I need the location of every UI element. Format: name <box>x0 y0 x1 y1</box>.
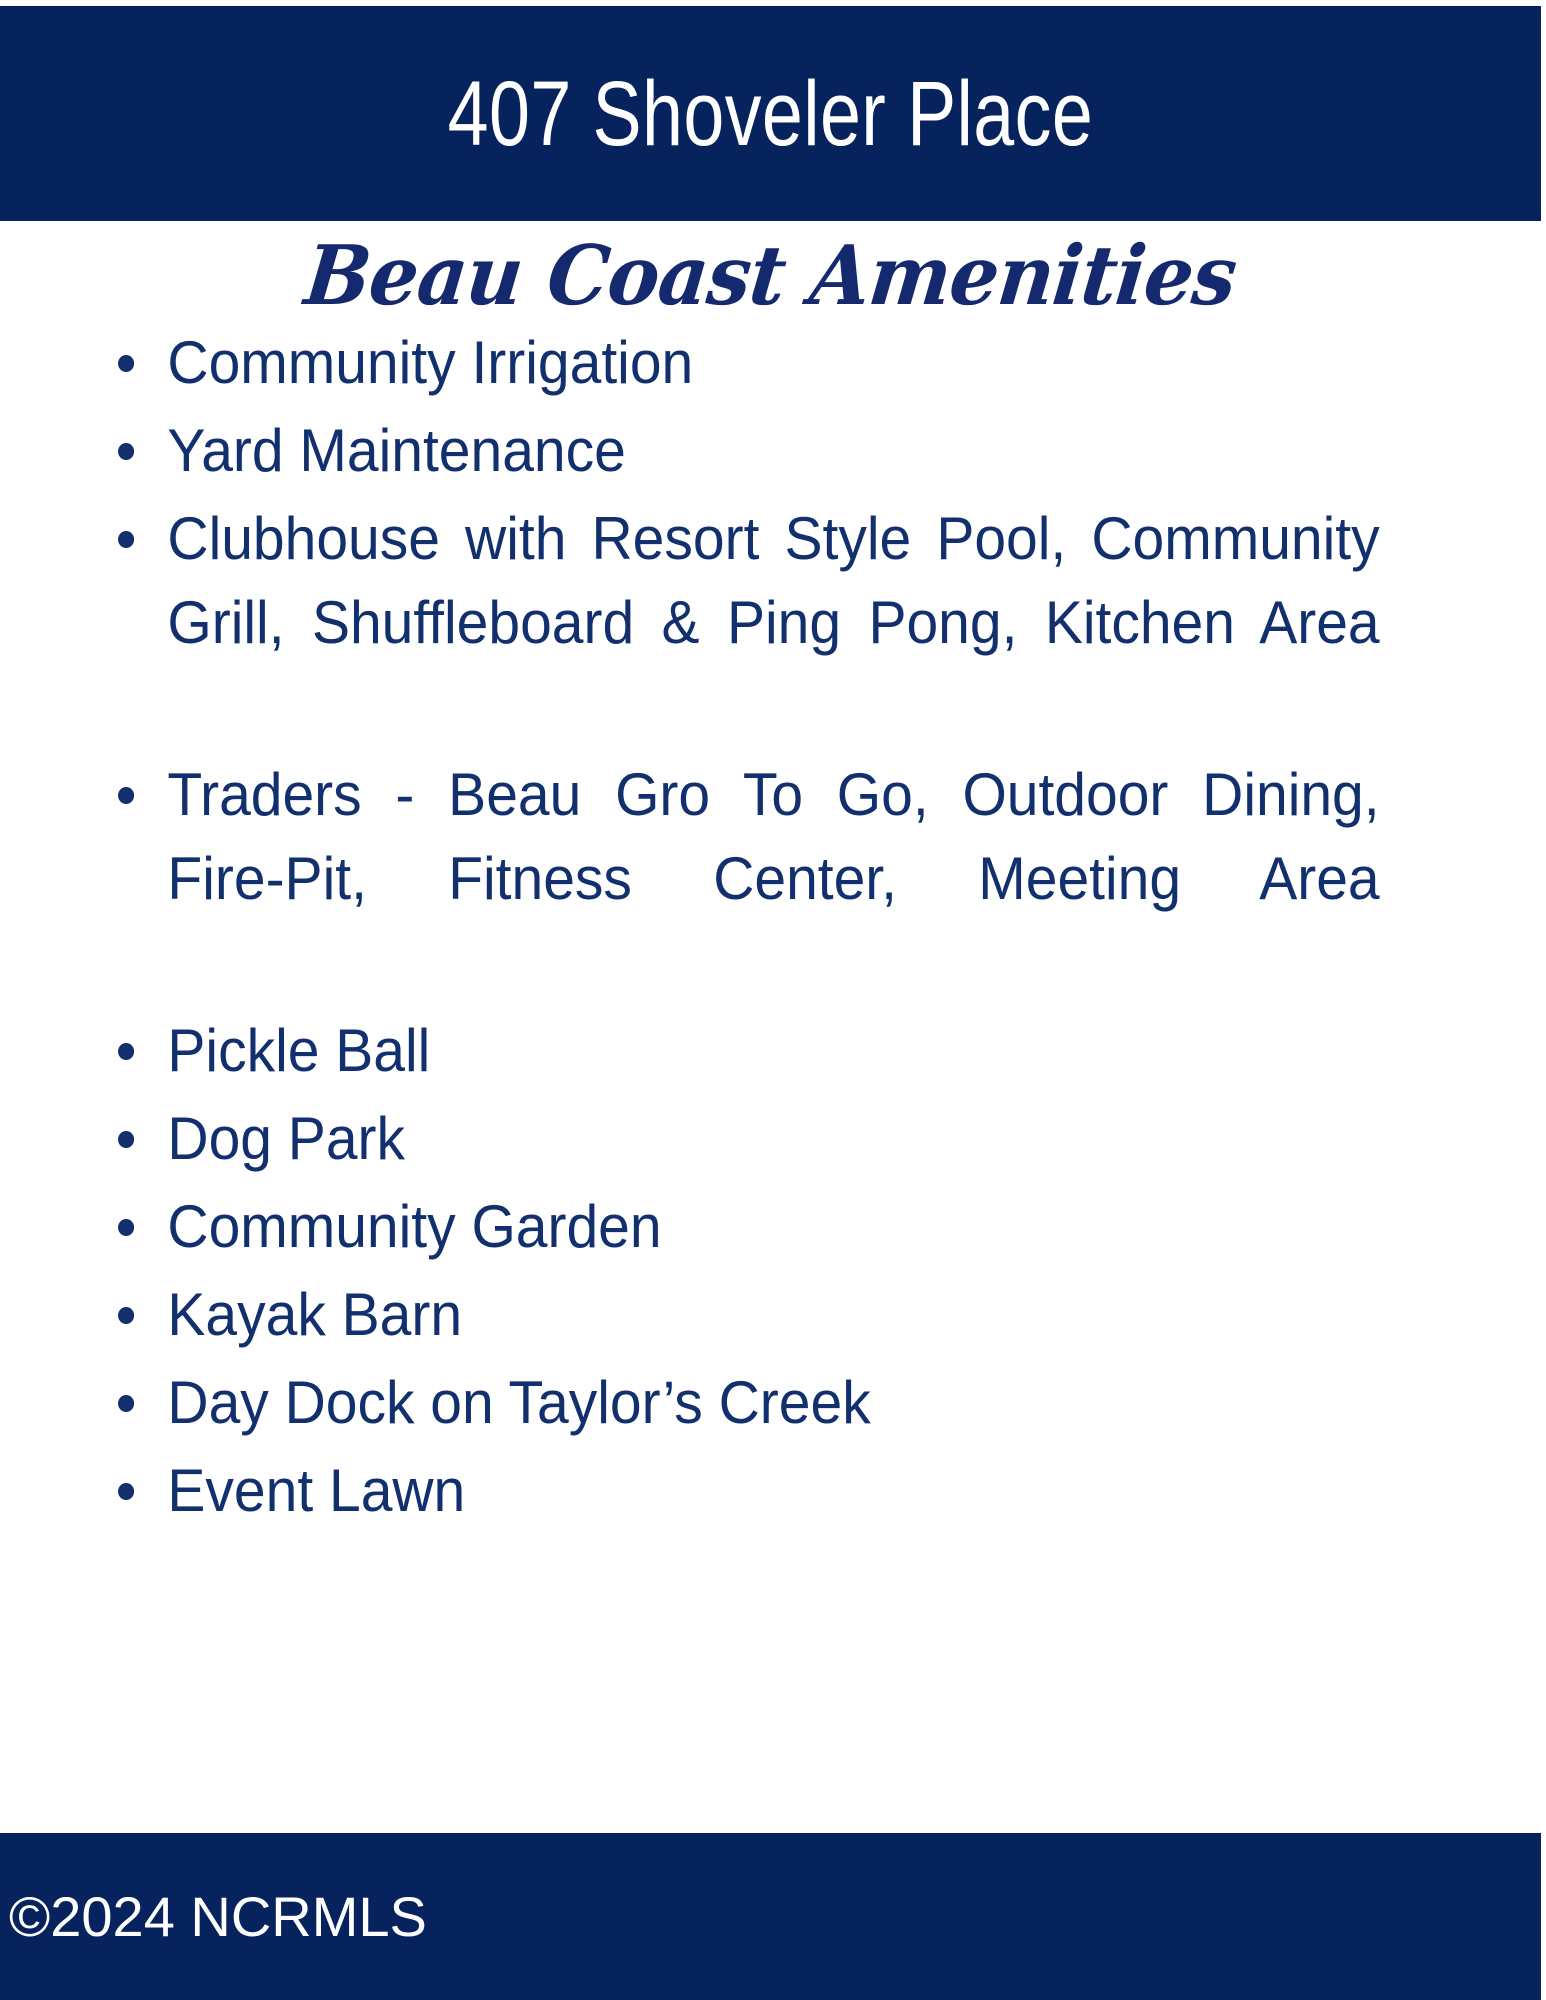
amenity-list-item: Clubhouse with Resort Style Pool, Commun… <box>118 497 1380 749</box>
bullet-icon <box>118 443 134 460</box>
amenity-list-item: Community Garden <box>118 1185 1380 1269</box>
amenity-label: Pickle Ball <box>167 1009 1379 1093</box>
amenity-label: Kayak Barn <box>167 1273 1379 1357</box>
amenity-label: Clubhouse with Resort Style Pool, Commun… <box>167 497 1379 749</box>
bullet-icon <box>118 1219 134 1236</box>
bullet-icon <box>118 1043 134 1060</box>
page-title: 407 Shoveler Place <box>448 68 1093 160</box>
bullet-icon <box>118 1131 134 1148</box>
amenity-label: Day Dock on Taylor’s Creek <box>167 1361 1379 1445</box>
main-content: Beau Coast Amenities Community Irrigatio… <box>0 221 1541 1833</box>
amenity-list-item: Event Lawn <box>118 1449 1380 1533</box>
amenity-list-item: Traders - Beau Gro To Go, Outdoor Dining… <box>118 753 1380 1005</box>
amenity-list-item: Day Dock on Taylor’s Creek <box>118 1361 1380 1445</box>
amenity-list-item: Community Irrigation <box>118 321 1380 405</box>
amenity-list-item: Dog Park <box>118 1097 1380 1181</box>
listing-flyer: 407 Shoveler Place Beau Coast Amenities … <box>0 0 1546 2000</box>
amenity-label: Traders - Beau Gro To Go, Outdoor Dining… <box>167 753 1379 1005</box>
amenity-list-item: Pickle Ball <box>118 1009 1380 1093</box>
amenity-list-item: Kayak Barn <box>118 1273 1380 1357</box>
footer-band: ©2024 NCRMLS <box>0 1833 1541 2000</box>
bullet-icon <box>118 355 134 372</box>
amenity-label: Community Irrigation <box>167 321 1379 405</box>
amenity-label: Yard Maintenance <box>167 409 1379 493</box>
section-title: Beau Coast Amenities <box>42 235 1499 317</box>
amenity-label: Dog Park <box>167 1097 1379 1181</box>
bullet-icon <box>118 787 134 804</box>
amenity-label: Event Lawn <box>167 1449 1379 1533</box>
bullet-icon <box>118 1395 134 1412</box>
bullet-icon <box>118 1483 134 1500</box>
header-band: 407 Shoveler Place <box>0 6 1541 221</box>
amenity-list-item: Yard Maintenance <box>118 409 1380 493</box>
amenities-list: Community IrrigationYard MaintenanceClub… <box>0 321 1541 1533</box>
copyright-notice: ©2024 NCRMLS <box>0 1889 427 1945</box>
amenity-label: Community Garden <box>167 1185 1379 1269</box>
bullet-icon <box>118 1307 134 1324</box>
bullet-icon <box>118 531 134 548</box>
